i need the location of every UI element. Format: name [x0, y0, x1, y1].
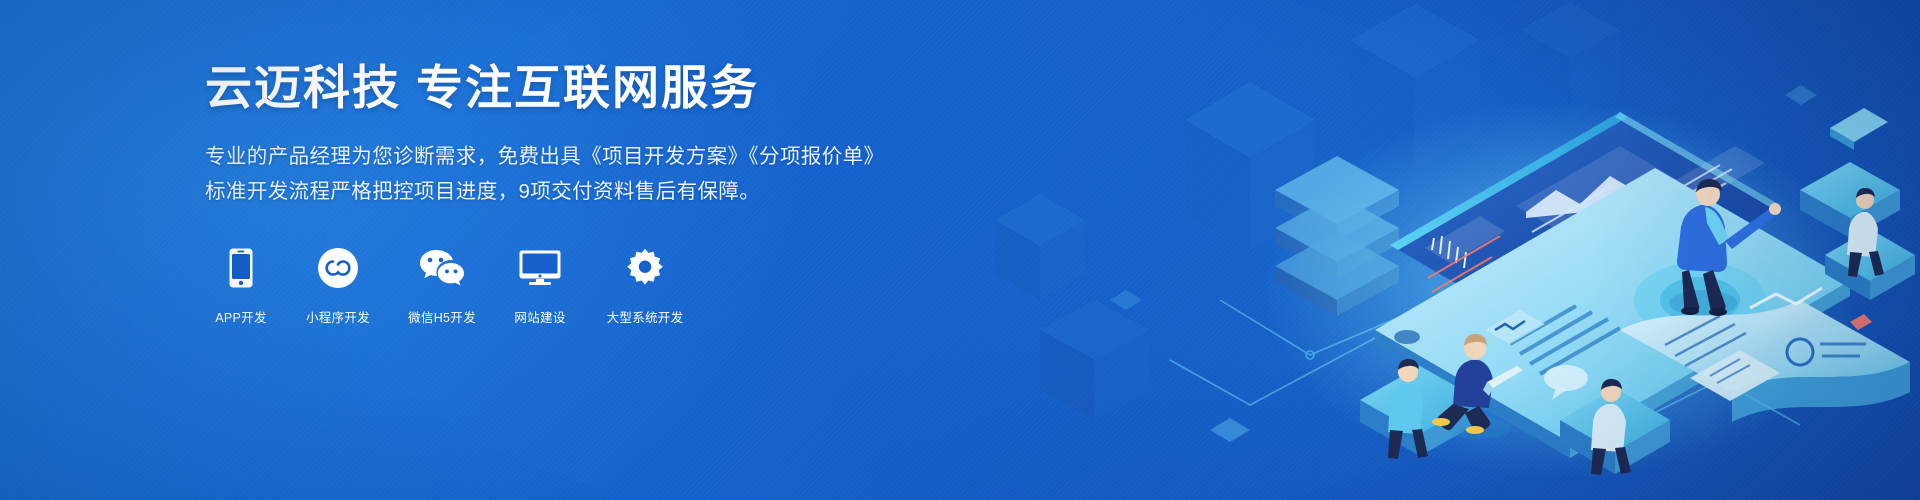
subtitle-line-1: 专业的产品经理为您诊断需求，免费出具《项目开发方案》《分项报价单》	[205, 140, 965, 173]
service-label: 网站建设	[503, 307, 577, 326]
service-item-app[interactable]: APP开发	[205, 246, 277, 326]
service-label: 小程序开发	[295, 307, 381, 326]
service-item-wechat-h5[interactable]: 微信H5开发	[399, 246, 485, 326]
subtitle-line-2: 标准开发流程严格把控项目进度，9项交付资料售后有保障。	[205, 175, 965, 208]
page-title: 云迈科技 专注互联网服务	[205, 62, 965, 114]
service-label: 大型系统开发	[595, 307, 695, 326]
isometric-tech-illustration	[920, 0, 1920, 500]
gear-icon	[595, 246, 695, 290]
floating-card-1	[1830, 108, 1888, 150]
hero-banner: 云迈科技 专注互联网服务 专业的产品经理为您诊断需求，免费出具《项目开发方案》《…	[0, 0, 1920, 500]
service-list: APP开发 小程序开发	[205, 246, 965, 326]
mobile-phone-icon	[205, 246, 277, 290]
service-label: APP开发	[205, 307, 277, 326]
service-label: 微信H5开发	[399, 307, 485, 326]
service-item-large-system[interactable]: 大型系统开发	[595, 246, 695, 326]
banner-content: 云迈科技 专注互联网服务 专业的产品经理为您诊断需求，免费出具《项目开发方案》《…	[205, 62, 965, 326]
service-item-website[interactable]: 网站建设	[503, 246, 577, 326]
monitor-icon	[503, 246, 577, 290]
service-item-mini-program[interactable]: 小程序开发	[295, 246, 381, 326]
wechat-icon	[399, 246, 485, 290]
mini-program-icon	[295, 246, 381, 290]
